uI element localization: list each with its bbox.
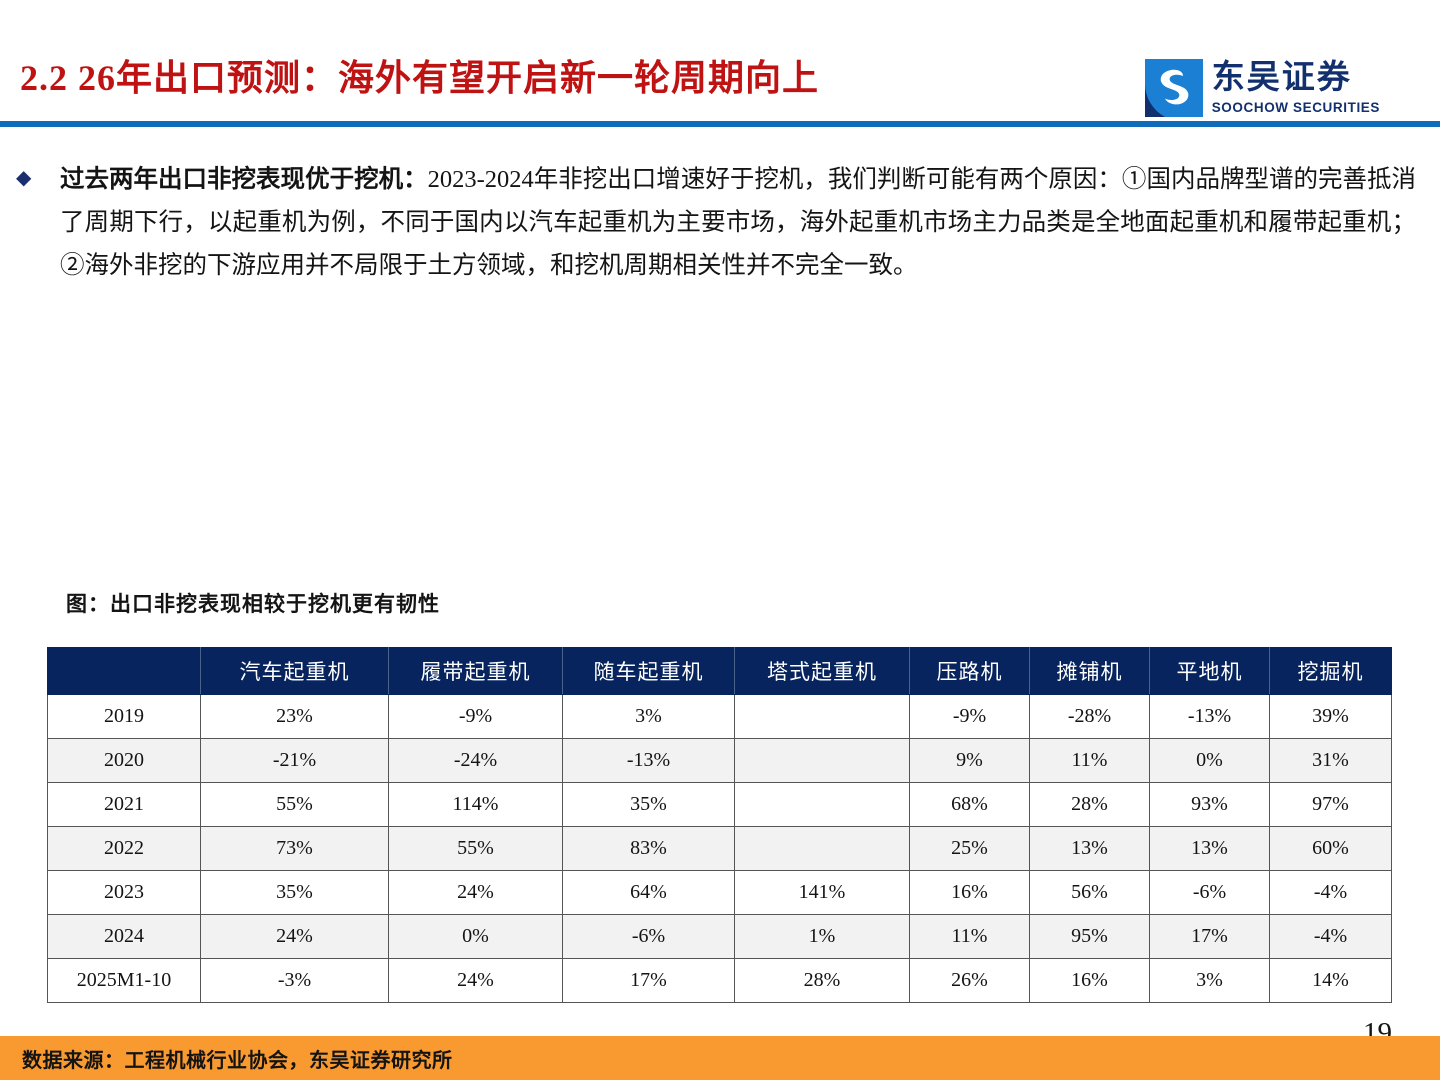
table-col-header-2: 履带起重机 xyxy=(389,648,563,695)
table-cell: 114% xyxy=(389,783,563,827)
body-paragraph: 过去两年出口非挖表现优于挖机：2023-2024年非挖出口增速好于挖机，我们判断… xyxy=(16,158,1416,287)
table-cell: 16% xyxy=(1030,959,1150,1003)
table-cell: -13% xyxy=(1150,695,1270,739)
table-col-header-year xyxy=(48,648,201,695)
table-cell: -13% xyxy=(563,739,735,783)
export-growth-table: 汽车起重机履带起重机随车起重机塔式起重机压路机摊铺机平地机挖掘机 201923%… xyxy=(47,647,1391,1003)
table-cell: 0% xyxy=(389,915,563,959)
table-row: 202273%55%83%25%13%13%60% xyxy=(48,827,1392,871)
table-cell: 16% xyxy=(910,871,1030,915)
table-cell: 28% xyxy=(735,959,910,1003)
table-cell: 14% xyxy=(1270,959,1392,1003)
table-cell xyxy=(735,739,910,783)
table-cell: 17% xyxy=(563,959,735,1003)
table-row: 202424%0%-6%1%11%95%17%-4% xyxy=(48,915,1392,959)
table-cell: 11% xyxy=(1030,739,1150,783)
table-cell-year: 2024 xyxy=(48,915,201,959)
table-col-header-3: 随车起重机 xyxy=(563,648,735,695)
table-cell: -21% xyxy=(201,739,389,783)
table-cell: 26% xyxy=(910,959,1030,1003)
table-cell: 35% xyxy=(563,783,735,827)
table-cell: 141% xyxy=(735,871,910,915)
brand-text: 东吴证券 SOOCHOW SECURITIES xyxy=(1212,62,1380,115)
table-cell: 73% xyxy=(201,827,389,871)
table-cell: 55% xyxy=(389,827,563,871)
table-cell: -4% xyxy=(1270,871,1392,915)
slide-footer: 数据来源：工程机械行业协会，东吴证券研究所 xyxy=(0,1036,1440,1080)
table-cell xyxy=(735,827,910,871)
brand-name-en: SOOCHOW SECURITIES xyxy=(1212,101,1380,115)
table-col-header-1: 汽车起重机 xyxy=(201,648,389,695)
table-cell: 83% xyxy=(563,827,735,871)
table-row: 202335%24%64%141%16%56%-6%-4% xyxy=(48,871,1392,915)
brand-logo: 东吴证券 SOOCHOW SECURITIES xyxy=(1145,57,1380,119)
table-cell: 11% xyxy=(910,915,1030,959)
slide-header: 2.2 26年出口预测：海外有望开启新一轮周期向上 东吴证券 SOOCHOW S… xyxy=(0,0,1440,128)
bullet-diamond-icon: ◆ xyxy=(16,168,31,188)
table-cell: 60% xyxy=(1270,827,1392,871)
table-cell-year: 2022 xyxy=(48,827,201,871)
table-cell: 24% xyxy=(389,959,563,1003)
soochow-s-mark-icon xyxy=(1145,59,1203,117)
table-cell: 39% xyxy=(1270,695,1392,739)
table-cell: 13% xyxy=(1030,827,1150,871)
table-cell-year: 2025M1-10 xyxy=(48,959,201,1003)
table-cell: 68% xyxy=(910,783,1030,827)
page-title: 2.2 26年出口预测：海外有望开启新一轮周期向上 xyxy=(20,60,819,96)
figure-caption: 图：出口非挖表现相较于挖机更有韧性 xyxy=(66,588,440,618)
table-cell: 97% xyxy=(1270,783,1392,827)
table-body: 201923%-9%3%-9%-28%-13%39%2020-21%-24%-1… xyxy=(48,695,1392,1003)
header-divider xyxy=(0,121,1440,127)
table-cell: -6% xyxy=(563,915,735,959)
table-cell: -3% xyxy=(201,959,389,1003)
table-cell-year: 2019 xyxy=(48,695,201,739)
table-cell: 35% xyxy=(201,871,389,915)
table-cell: 28% xyxy=(1030,783,1150,827)
table-row: 201923%-9%3%-9%-28%-13%39% xyxy=(48,695,1392,739)
table-cell: 13% xyxy=(1150,827,1270,871)
table-row: 2025M1-10-3%24%17%28%26%16%3%14% xyxy=(48,959,1392,1003)
table-cell: 56% xyxy=(1030,871,1150,915)
table-cell: -6% xyxy=(1150,871,1270,915)
table-cell: 0% xyxy=(1150,739,1270,783)
body-block: ◆ 过去两年出口非挖表现优于挖机：2023-2024年非挖出口增速好于挖机，我们… xyxy=(16,158,1416,287)
table-cell: 9% xyxy=(910,739,1030,783)
table-cell: 3% xyxy=(563,695,735,739)
table-cell-year: 2021 xyxy=(48,783,201,827)
table-cell: 17% xyxy=(1150,915,1270,959)
table-cell: 1% xyxy=(735,915,910,959)
table-cell: 95% xyxy=(1030,915,1150,959)
table-col-header-6: 摊铺机 xyxy=(1030,648,1150,695)
table-cell: 64% xyxy=(563,871,735,915)
source-note: 数据来源：工程机械行业协会，东吴证券研究所 xyxy=(22,1044,453,1073)
table-col-header-4: 塔式起重机 xyxy=(735,648,910,695)
table-cell: -9% xyxy=(910,695,1030,739)
table-cell-year: 2023 xyxy=(48,871,201,915)
table-cell: -24% xyxy=(389,739,563,783)
table-cell: 93% xyxy=(1150,783,1270,827)
table-cell xyxy=(735,695,910,739)
body-lead-text: 过去两年出口非挖表现优于挖机： xyxy=(60,166,428,193)
table-header-row: 汽车起重机履带起重机随车起重机塔式起重机压路机摊铺机平地机挖掘机 xyxy=(48,648,1392,695)
table-cell: 25% xyxy=(910,827,1030,871)
table-cell: 24% xyxy=(201,915,389,959)
brand-name-cn: 东吴证券 xyxy=(1212,62,1380,95)
table-cell: -28% xyxy=(1030,695,1150,739)
table-col-header-5: 压路机 xyxy=(910,648,1030,695)
table-cell: 31% xyxy=(1270,739,1392,783)
table-cell: 23% xyxy=(201,695,389,739)
table-cell xyxy=(735,783,910,827)
table-col-header-7: 平地机 xyxy=(1150,648,1270,695)
table-cell: 55% xyxy=(201,783,389,827)
table-cell: 24% xyxy=(389,871,563,915)
table-row: 202155%114%35%68%28%93%97% xyxy=(48,783,1392,827)
table-row: 2020-21%-24%-13%9%11%0%31% xyxy=(48,739,1392,783)
table-cell: 3% xyxy=(1150,959,1270,1003)
table-col-header-8: 挖掘机 xyxy=(1270,648,1392,695)
table-header: 汽车起重机履带起重机随车起重机塔式起重机压路机摊铺机平地机挖掘机 xyxy=(48,648,1392,695)
table-cell: -4% xyxy=(1270,915,1392,959)
table-cell: -9% xyxy=(389,695,563,739)
table-cell-year: 2020 xyxy=(48,739,201,783)
